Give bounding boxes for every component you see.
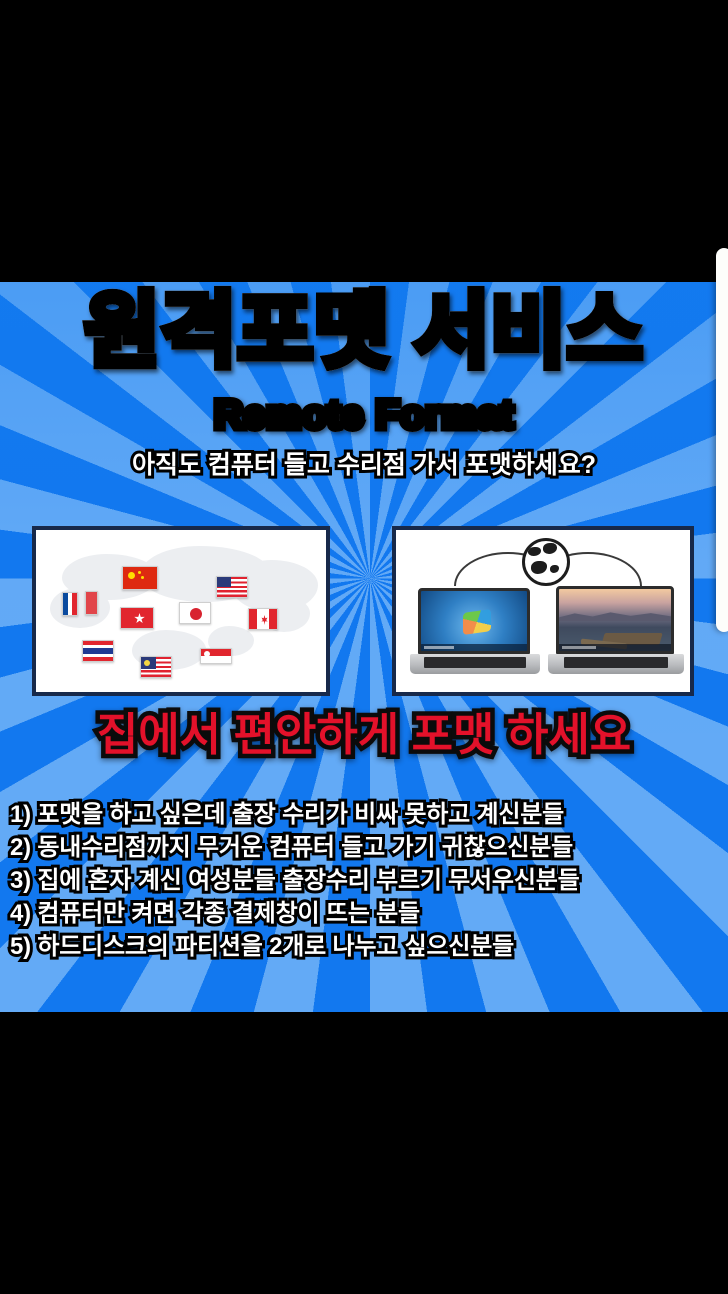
poster-title-english: Remote Format bbox=[0, 392, 728, 438]
flag-united-states bbox=[216, 576, 248, 598]
flag-china bbox=[122, 566, 158, 590]
poster-title-korean: 원격포맷 서비스 bbox=[0, 284, 728, 380]
reason-item: 2) 동내수리점까지 무거운 컴퓨터 들고 가기 귀찮으신분들 bbox=[10, 831, 722, 864]
flag-small-red bbox=[85, 591, 98, 615]
image-viewer-screen: 원격포맷 서비스 Remote Format 아직도 컴퓨터 들고 수리점 가서… bbox=[0, 0, 728, 1294]
reasons-list: 1) 포맷을 하고 싶은데 출장 수리가 비싸 못하고 계신분들 2) 동내수리… bbox=[10, 798, 722, 963]
laptop-right bbox=[548, 586, 684, 680]
poster-red-headline: 집에서 편안하게 포맷 하세요 bbox=[0, 706, 728, 764]
laptop-left bbox=[410, 588, 540, 680]
world-map-panel bbox=[32, 526, 330, 696]
reason-item: 5) 하드디스크의 파티션을 2개로 나누고 싶으신분들 bbox=[10, 930, 722, 963]
flag-hong-kong bbox=[120, 607, 154, 629]
flag-malaysia bbox=[140, 656, 172, 678]
flag-singapore bbox=[200, 648, 232, 664]
laptop-right-screen bbox=[556, 586, 674, 654]
flag-canada bbox=[248, 608, 278, 630]
letterbox-bottom bbox=[0, 1012, 728, 1294]
laptop-left-screen bbox=[418, 588, 530, 654]
promotional-poster: 원격포맷 서비스 Remote Format 아직도 컴퓨터 들고 수리점 가서… bbox=[0, 282, 728, 1012]
globe-icon bbox=[522, 538, 570, 586]
poster-tagline: 아직도 컴퓨터 들고 수리점 가서 포맷하세요? bbox=[0, 448, 728, 482]
edge-overlay-card[interactable] bbox=[716, 248, 728, 632]
reason-item: 4) 컴퓨터만 켜면 각종 결제창이 뜨는 분들 bbox=[10, 897, 722, 930]
flag-france bbox=[62, 592, 78, 616]
flag-thailand bbox=[82, 640, 114, 662]
illustration-panels bbox=[0, 526, 728, 696]
poster-content: 원격포맷 서비스 Remote Format 아직도 컴퓨터 들고 수리점 가서… bbox=[0, 282, 728, 1012]
reason-item: 1) 포맷을 하고 싶은데 출장 수리가 비싸 못하고 계신분들 bbox=[10, 798, 722, 831]
reason-item: 3) 집에 혼자 계신 여성분들 출장수리 부르기 무서우신분들 bbox=[10, 864, 722, 897]
remote-connection-panel bbox=[392, 526, 694, 696]
flag-japan bbox=[179, 602, 211, 624]
letterbox-top bbox=[0, 0, 728, 282]
